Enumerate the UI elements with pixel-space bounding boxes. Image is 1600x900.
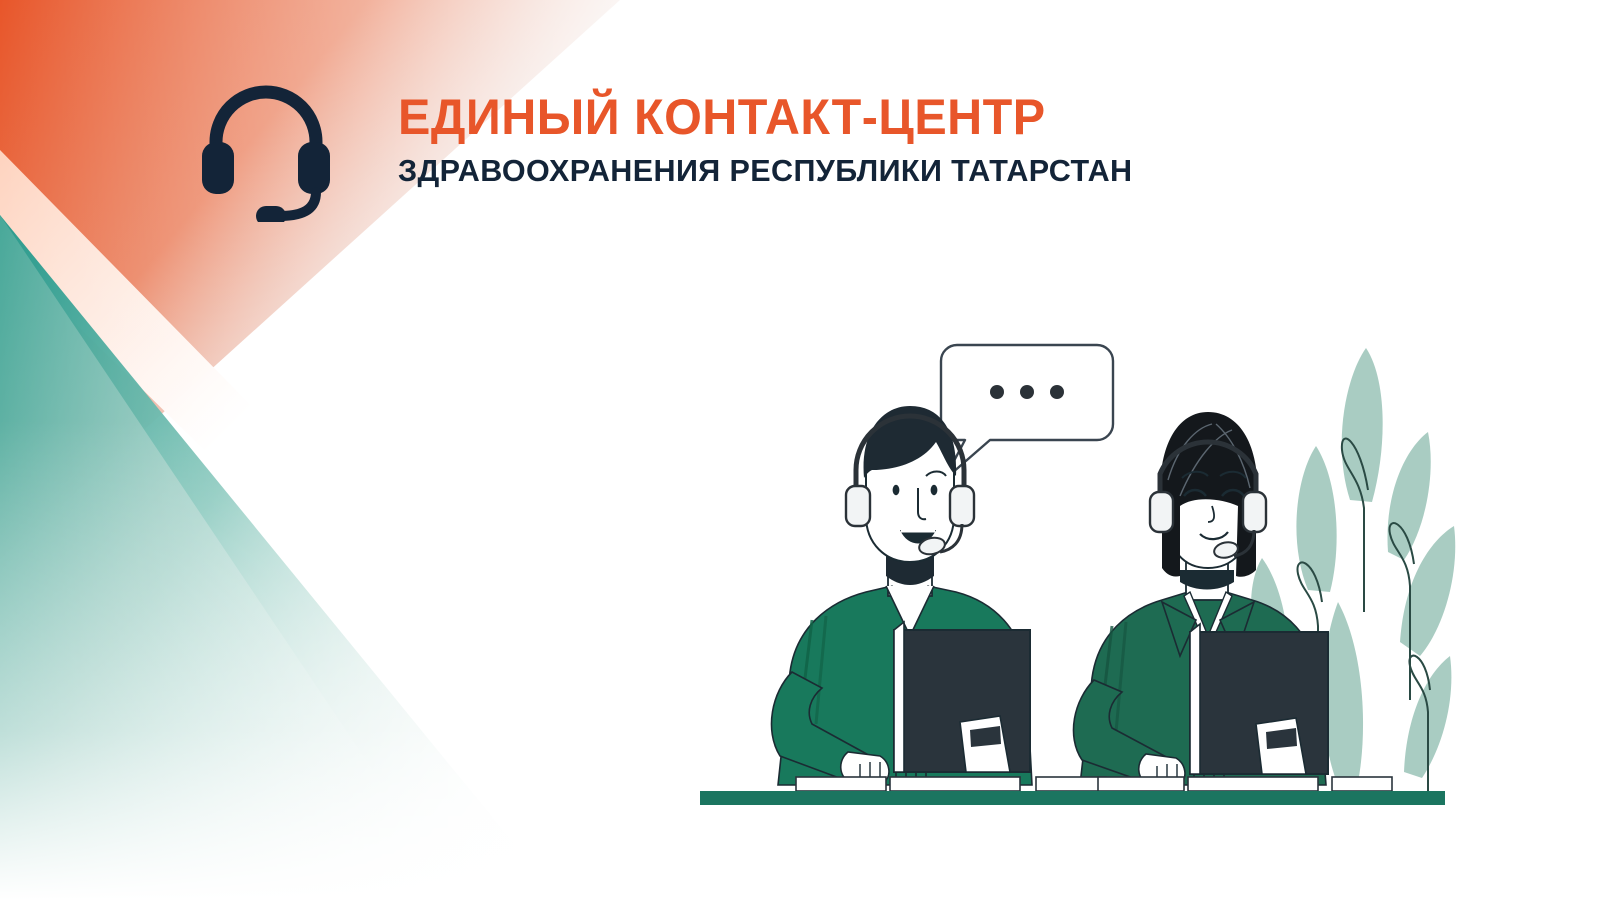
- white-diagonal-stripe: [0, 150, 560, 720]
- page-subtitle: ЗДРАВООХРАНЕНИЯ РЕСПУБЛИКИ ТАТАРСТАН: [398, 155, 1133, 186]
- keyboard: [796, 777, 1106, 791]
- banner-root: ЕДИНЫЙ КОНТАКТ-ЦЕНТР ЗДРАВООХРАНЕНИЯ РЕС…: [0, 0, 1600, 900]
- keyboard: [1098, 777, 1392, 791]
- desk-surface: [700, 791, 1445, 805]
- title-block: ЕДИНЫЙ КОНТАКТ-ЦЕНТР ЗДРАВООХРАНЕНИЯ РЕС…: [398, 78, 1144, 186]
- logo-lockup: ЕДИНЫЙ КОНТАКТ-ЦЕНТР ЗДРАВООХРАНЕНИЯ РЕС…: [196, 78, 1144, 222]
- page-title: ЕДИНЫЙ КОНТАКТ-ЦЕНТР: [398, 92, 1121, 142]
- teal-wedge: [0, 215, 560, 900]
- desktop-monitor: [894, 622, 1030, 772]
- headset-icon: [196, 82, 336, 222]
- call-center-operators-illustration: [660, 320, 1480, 820]
- speech-bubble: [941, 345, 1113, 480]
- speech-dot: [1050, 385, 1064, 399]
- desktop-monitor: [1190, 624, 1328, 774]
- speech-dot: [1020, 385, 1034, 399]
- speech-dot: [990, 385, 1004, 399]
- teal-wedge-inner: [0, 215, 460, 900]
